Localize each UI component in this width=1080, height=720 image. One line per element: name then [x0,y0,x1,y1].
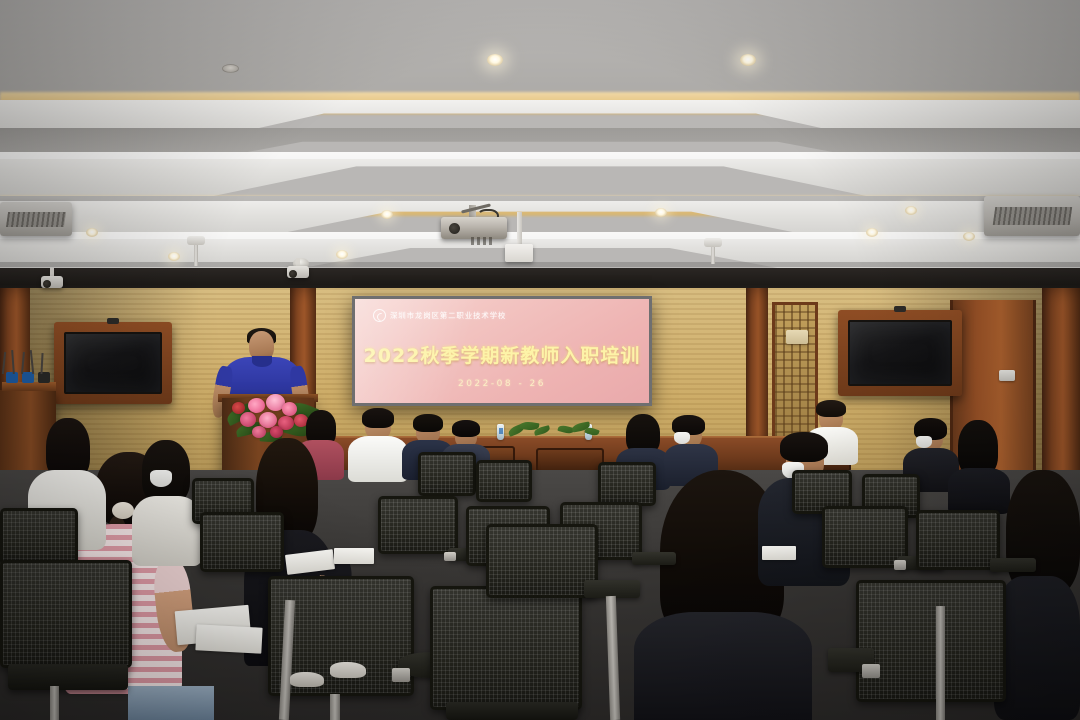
projector-lens [449,223,460,234]
ceiling-groove-shadow [0,196,1080,201]
shoe [290,672,324,687]
ceiling-speaker-column [513,212,525,260]
table-plant [508,418,554,440]
downlight [336,250,348,259]
face-mask [150,470,172,487]
display-screen-right [848,320,952,386]
head-table-chair [536,448,604,472]
slide-date: 2022-08 - 26 [355,379,649,389]
floral-arrangement [226,388,318,444]
ceiling-ac-unit [984,196,1080,236]
school-emblem-icon [373,309,386,322]
ceiling-step-ring-2 [0,152,1080,200]
face-mask [674,432,690,444]
downlight [866,228,878,237]
security-camera-left [41,268,63,294]
downlight [86,228,98,237]
downlight [963,232,975,241]
smoke-detector [222,64,239,73]
handout-paper [334,548,374,564]
downlight [381,210,393,219]
wall-display-left [54,322,172,404]
downlight [740,54,756,66]
slide-school-logo: 深圳市龙岗区第二职业技术学校 [373,309,506,322]
wall-display-right [838,310,962,396]
downlight [168,252,180,261]
display-camera-left [107,318,119,324]
speaker-stem-head [704,238,722,247]
handout-paper [762,546,796,560]
conference-hall-photo: 深圳市龙岗区第二职业技术学校 2022秋季学期新教师入职培训 2022-08 -… [0,0,1080,720]
shoe [330,662,366,678]
ceiling [0,0,1080,292]
downlight [487,54,503,66]
slide-logo-text: 深圳市龙岗区第二职业技术学校 [390,310,506,321]
handout-paper [195,624,262,653]
projection-screen: 深圳市龙岗区第二职业技术学校 2022秋季学期新教师入职培训 2022-08 -… [352,296,652,406]
display-camera-right [894,306,906,312]
attendee-jeans [128,686,214,720]
light-switch[interactable] [999,370,1015,381]
projection-screen-surface: 深圳市龙岗区第二职业技术学校 2022秋季学期新教师入职培训 2022-08 -… [355,299,649,403]
speaker-stem-head [187,236,205,245]
ceiling-groove-shadow [0,262,1080,267]
ceiling-projector [441,205,507,239]
slide-title: 2022秋季学期新教师入职培训 [355,341,649,368]
water-bottle [497,424,504,440]
face-mask [916,436,932,448]
wall-plaque [786,330,808,344]
downlight [655,208,667,217]
cabinet-top [2,382,56,391]
chair-leg [936,606,945,720]
ceiling-ac-unit [0,202,72,236]
security-camera-center [287,258,309,284]
table-plant [556,420,602,442]
downlight [905,206,917,215]
ceiling-ridge-highlight [0,152,1080,159]
speaker-collar [252,356,272,367]
ceiling-inner-panel [0,0,1080,95]
display-screen-left [64,332,162,394]
ceiling-ridge-highlight [0,232,1080,239]
hair-scrunchie [112,502,134,519]
